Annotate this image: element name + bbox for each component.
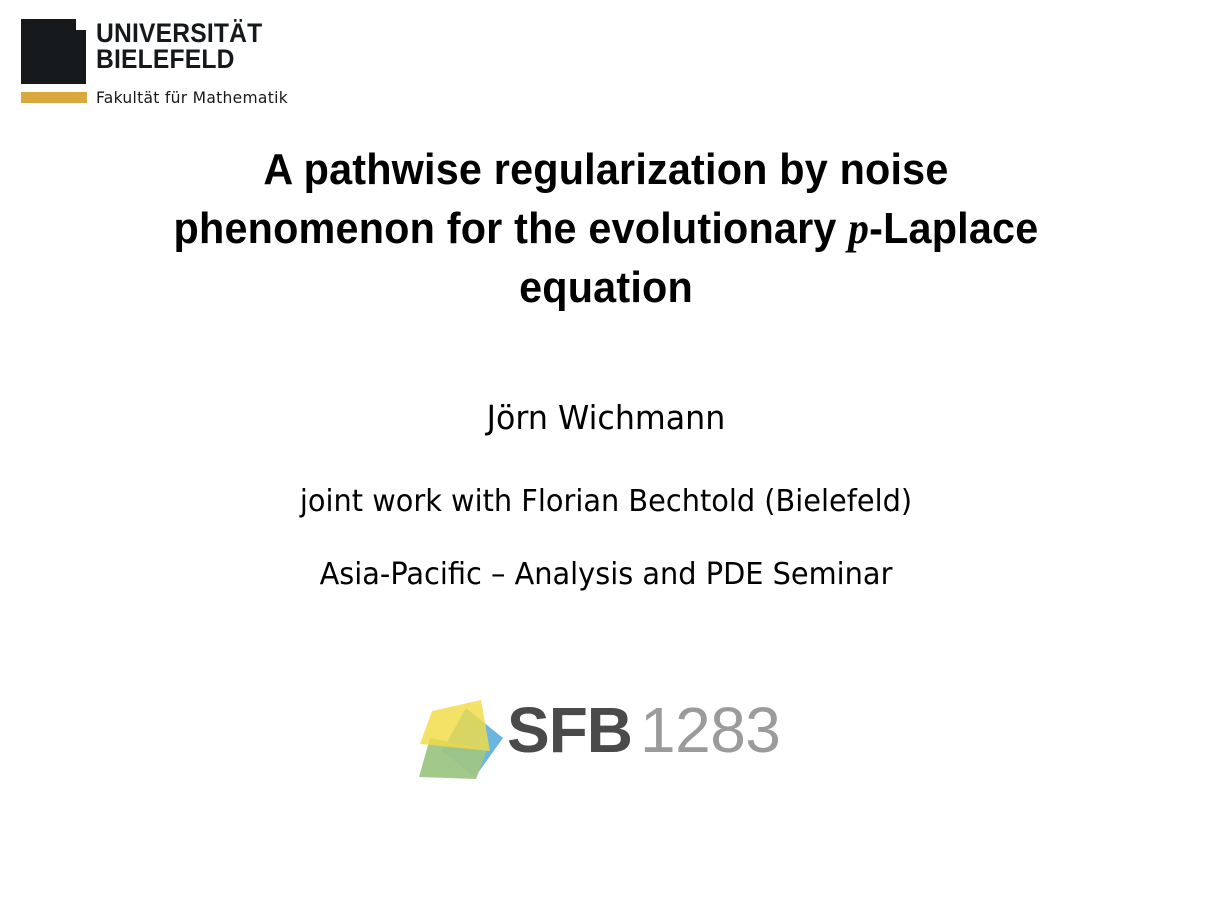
sfb-number: 1283	[640, 694, 780, 766]
joint-work-credit: joint work with Florian Bechtold (Bielef…	[91, 482, 1120, 522]
sfb-wordmark: SFB1283	[507, 698, 780, 762]
sfb-1283-logo: SFB1283	[414, 694, 794, 786]
university-wordmark: UNIVERSITÄT BIELEFELD	[96, 21, 275, 73]
sfb-shape-yellow	[420, 700, 490, 751]
sfb-acronym: SFB	[507, 694, 632, 766]
university-name-line2: BIELEFELD	[96, 47, 262, 73]
sfb-logo-mark	[414, 694, 506, 784]
title-line-2-text-a: phenomenon for the evolutionary	[174, 204, 849, 253]
gold-rule-divider	[21, 92, 87, 103]
author-and-event-block: Jörn Wichmann joint work with Florian Be…	[70, 396, 1142, 595]
faculty-label: Fakultät für Mathematik	[96, 88, 288, 107]
author-name: Jörn Wichmann	[91, 396, 1120, 440]
title-line-1: A pathwise regularization by noise	[102, 140, 1110, 199]
university-logo: UNIVERSITÄT BIELEFELD Fakultät für Mathe…	[21, 19, 321, 115]
bielefeld-logo-mark	[21, 19, 86, 84]
title-line-2: phenomenon for the evolutionary p-Laplac…	[102, 199, 1110, 258]
presentation-title: A pathwise regularization by noise pheno…	[70, 140, 1142, 317]
event-name: Asia-Pacific – Analysis and PDE Seminar	[91, 555, 1120, 595]
title-line-2-text-b: -Laplace	[869, 204, 1038, 253]
title-math-symbol-p: p	[848, 204, 869, 253]
title-line-3: equation	[102, 258, 1110, 317]
